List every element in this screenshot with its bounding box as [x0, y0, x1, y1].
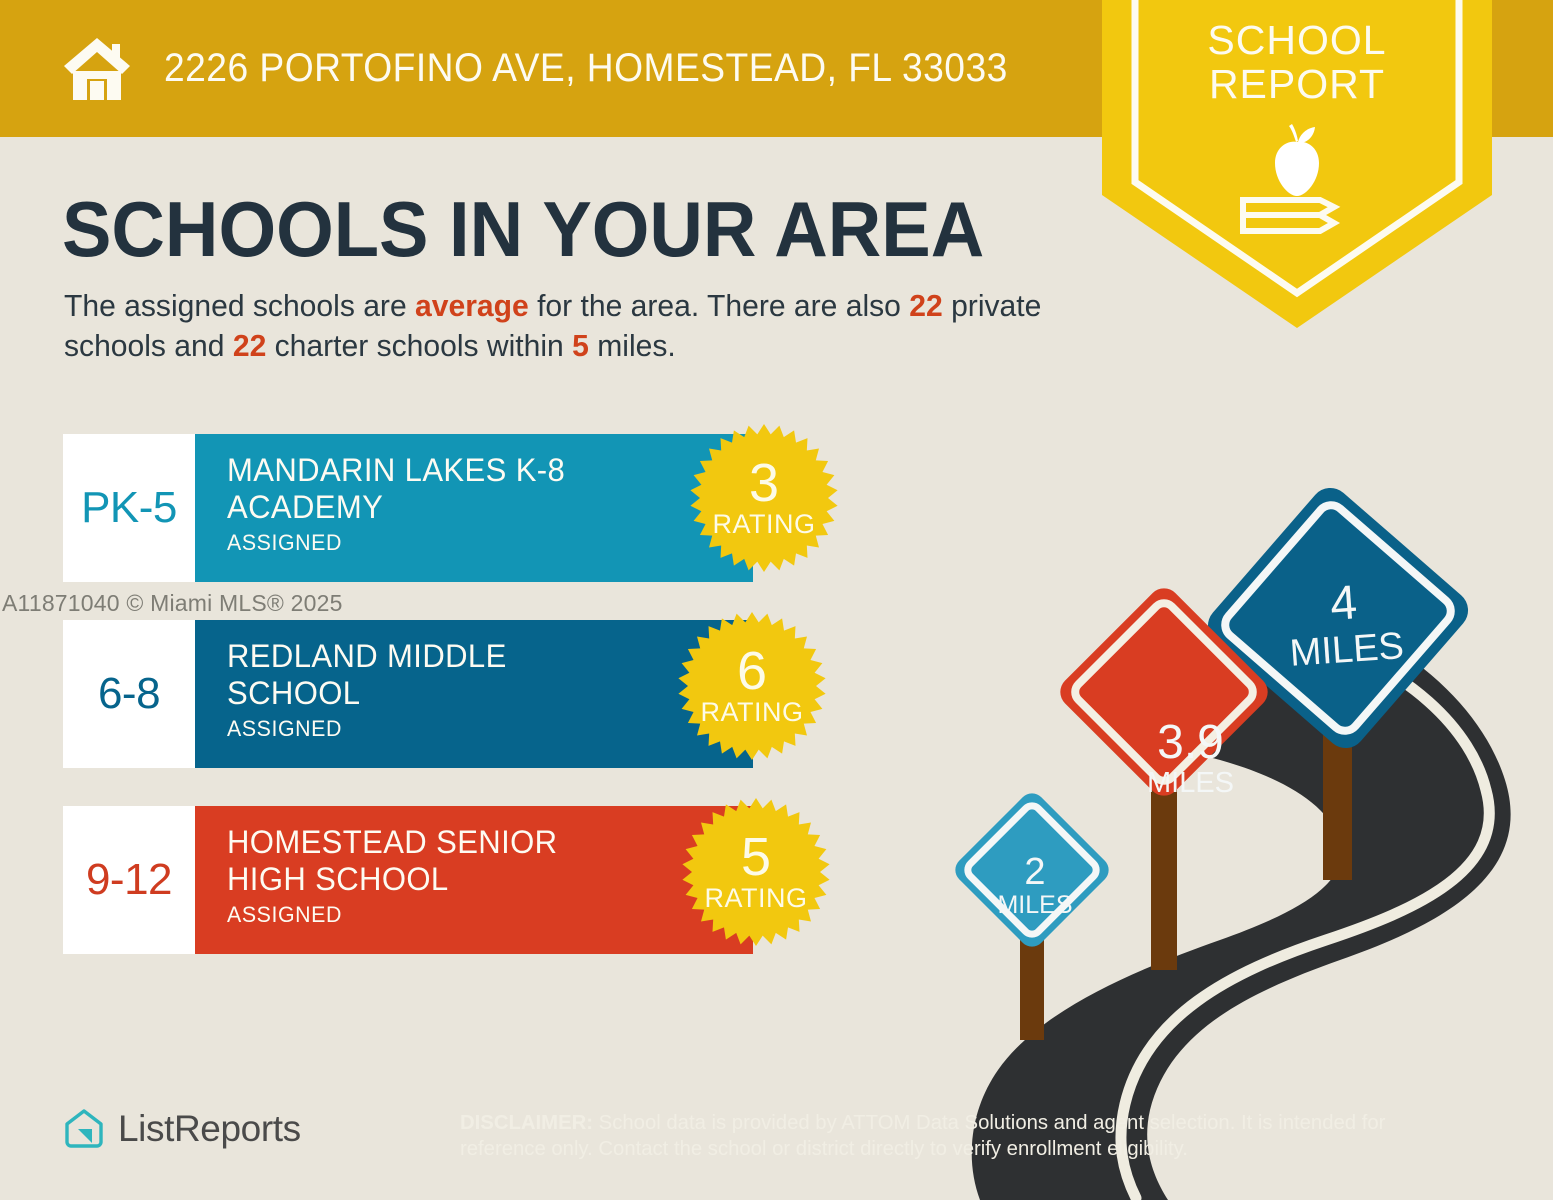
school-assignment-status: ASSIGNED: [227, 902, 737, 928]
school-row[interactable]: 6-8 REDLAND MIDDLE SCHOOL ASSIGNED: [63, 620, 753, 768]
subtitle-part-4: charter schools within: [266, 328, 572, 363]
grade-range-box: 9-12: [63, 806, 195, 954]
grade-range-label: 9-12: [86, 855, 172, 905]
school-row[interactable]: 9-12 HOMESTEAD SENIOR HIGH SCHOOL ASSIGN…: [63, 806, 753, 954]
school-assignment-status: ASSIGNED: [227, 530, 737, 556]
school-name-line-2: SCHOOL: [227, 675, 737, 712]
house-icon: [60, 36, 134, 102]
disclaimer: DISCLAIMER: School data is provided by A…: [460, 1110, 1470, 1162]
school-info-bar: HOMESTEAD SENIOR HIGH SCHOOL ASSIGNED: [195, 806, 753, 954]
subtitle-part-2: for the area. There are also: [529, 288, 910, 323]
road-illustration: [920, 470, 1553, 1200]
grade-range-label: 6-8: [98, 669, 160, 719]
school-name-line-1: MANDARIN LAKES K-8: [227, 452, 737, 489]
grade-range-box: PK-5: [63, 434, 195, 582]
listreports-house-tag-icon: [62, 1107, 106, 1151]
disclaimer-text: School data is provided by ATTOM Data So…: [460, 1111, 1385, 1160]
rating-starburst-badge: 5 RATING: [682, 798, 830, 946]
listreports-wordmark: ListReports: [118, 1108, 301, 1150]
road-sign-2-miles: [950, 788, 1114, 952]
page-title: SCHOOLS IN YOUR AREA: [62, 190, 984, 268]
subtitle-part-1: The assigned schools are: [64, 288, 415, 323]
school-assignment-status: ASSIGNED: [227, 716, 737, 742]
subtitle: The assigned schools are average for the…: [64, 286, 1063, 366]
mls-watermark: A11871040 © Miami MLS® 2025: [0, 588, 355, 619]
grade-range-label: PK-5: [81, 483, 177, 533]
school-name-line-1: HOMESTEAD SENIOR: [227, 824, 737, 861]
school-info-bar: REDLAND MIDDLE SCHOOL ASSIGNED: [195, 620, 753, 768]
school-report-badge: SCHOOL REPORT: [1102, 0, 1492, 330]
property-address: 2226 PORTOFINO AVE, HOMESTEAD, FL 33033: [164, 46, 1008, 91]
school-name-line-1: REDLAND MIDDLE: [227, 638, 737, 675]
rating-starburst-badge: 3 RATING: [690, 424, 838, 572]
subtitle-part-5: miles.: [589, 328, 676, 363]
grade-range-box: 6-8: [63, 620, 195, 768]
subtitle-highlight-radius: 5: [572, 328, 589, 363]
subtitle-highlight-average: average: [415, 288, 529, 323]
listreports-logo[interactable]: ListReports: [62, 1107, 301, 1151]
school-row[interactable]: PK-5 MANDARIN LAKES K-8 ACADEMY ASSIGNED: [63, 434, 753, 582]
disclaimer-label: DISCLAIMER:: [460, 1111, 593, 1134]
school-name-line-2: HIGH SCHOOL: [227, 861, 737, 898]
subtitle-highlight-charter-count: 22: [233, 328, 266, 363]
rating-starburst-badge: 6 RATING: [678, 612, 826, 760]
subtitle-highlight-private-count: 22: [909, 288, 942, 323]
school-name-line-2: ACADEMY: [227, 489, 737, 526]
school-info-bar: MANDARIN LAKES K-8 ACADEMY ASSIGNED: [195, 434, 753, 582]
